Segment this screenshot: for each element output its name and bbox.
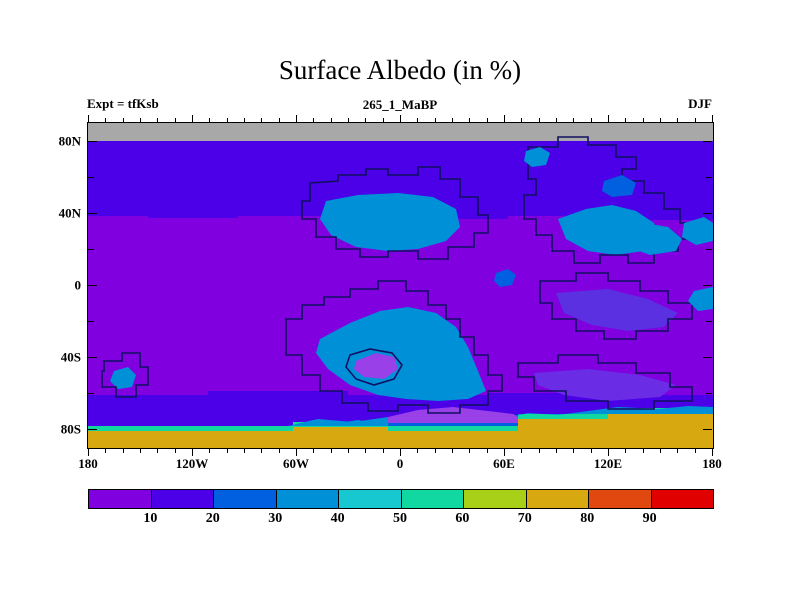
x-tick-label: 0 (397, 457, 404, 470)
figure-canvas: Surface Albedo (in %) 265_1_MaBP Expt = … (0, 0, 800, 600)
x-tick-label: 120E (594, 457, 622, 470)
x-tick-major (712, 115, 713, 123)
experiment-label: Expt = tfKsb (87, 97, 159, 110)
colorbar-swatch->90[interactable] (651, 490, 714, 508)
x-tick-minor (140, 448, 141, 453)
x-tick-minor (556, 118, 557, 123)
x-tick-minor (365, 448, 366, 453)
y-tick-minor (706, 177, 712, 178)
y-tick-minor (88, 393, 94, 394)
x-tick-minor (469, 448, 470, 453)
x-tick-minor (521, 118, 522, 123)
y-tick-major (88, 357, 97, 358)
y-tick-minor (88, 321, 94, 322)
colorbar-tick-label: 60 (455, 512, 469, 526)
y-tick-label: 80S (61, 423, 81, 436)
y-tick-major (703, 429, 712, 430)
colorbar-swatch-70-80[interactable] (526, 490, 589, 508)
x-tick-major (712, 448, 713, 456)
x-tick-major (504, 115, 505, 123)
x-tick-minor (695, 448, 696, 453)
y-tick-label: 40N (59, 207, 81, 220)
colorbar-swatch-40-50[interactable] (338, 490, 401, 508)
y-tick-label: 80N (59, 135, 81, 148)
x-tick-minor (625, 118, 626, 123)
x-tick-minor (383, 448, 384, 453)
x-tick-minor (660, 448, 661, 453)
x-tick-minor (677, 448, 678, 453)
x-tick-minor (556, 448, 557, 453)
colorbar-swatch-80-90[interactable] (588, 490, 651, 508)
colorbar-swatch-10-20[interactable] (151, 490, 214, 508)
x-tick-minor (105, 448, 106, 453)
x-tick-minor (383, 118, 384, 123)
x-tick-minor (539, 118, 540, 123)
x-tick-major (504, 448, 505, 456)
y-tick-label: 40S (61, 351, 81, 364)
x-tick-minor (435, 118, 436, 123)
x-tick-minor (417, 118, 418, 123)
colorbar-tick-label: 10 (143, 512, 157, 526)
x-tick-minor (261, 118, 262, 123)
x-tick-minor (313, 448, 314, 453)
x-tick-major (608, 448, 609, 456)
x-tick-minor (227, 118, 228, 123)
north-pole-missing (88, 123, 713, 141)
x-tick-minor (573, 448, 574, 453)
x-tick-minor (313, 118, 314, 123)
x-tick-minor (348, 448, 349, 453)
y-tick-major (703, 213, 712, 214)
x-tick-minor (279, 118, 280, 123)
colorbar-tick-label: 50 (393, 512, 407, 526)
x-tick-minor (417, 448, 418, 453)
y-tick-minor (88, 249, 94, 250)
x-tick-minor (348, 118, 349, 123)
x-tick-minor (365, 118, 366, 123)
x-tick-minor (123, 118, 124, 123)
x-tick-label: 180 (78, 457, 98, 470)
x-tick-minor (227, 448, 228, 453)
y-tick-minor (706, 321, 712, 322)
page-title: Surface Albedo (in %) (0, 57, 800, 84)
x-tick-minor (209, 448, 210, 453)
colorbar-tick-label: 70 (518, 512, 532, 526)
x-tick-minor (175, 118, 176, 123)
x-tick-minor (591, 448, 592, 453)
x-tick-minor (539, 448, 540, 453)
x-tick-major (400, 448, 401, 456)
colorbar[interactable] (88, 489, 714, 509)
x-tick-minor (244, 118, 245, 123)
colorbar-swatch-20-30[interactable] (213, 490, 276, 508)
x-tick-minor (261, 448, 262, 453)
colorbar-tick-label: 20 (206, 512, 220, 526)
y-tick-minor (706, 249, 712, 250)
x-tick-major (88, 448, 89, 456)
albedo-map (88, 123, 713, 448)
x-tick-minor (591, 118, 592, 123)
x-tick-major (608, 115, 609, 123)
x-tick-major (296, 448, 297, 456)
y-tick-major (703, 285, 712, 286)
x-tick-major (192, 115, 193, 123)
x-tick-minor (123, 448, 124, 453)
map-plot-area (87, 122, 714, 449)
x-tick-minor (140, 118, 141, 123)
y-tick-major (88, 429, 97, 430)
colorbar-swatch-60-70[interactable] (463, 490, 526, 508)
x-tick-minor (209, 118, 210, 123)
x-tick-major (88, 115, 89, 123)
x-tick-minor (279, 448, 280, 453)
season-label: DJF (688, 97, 712, 110)
x-tick-minor (487, 118, 488, 123)
x-tick-major (296, 115, 297, 123)
x-tick-minor (452, 118, 453, 123)
x-tick-minor (452, 448, 453, 453)
colorbar-tick-label: 30 (268, 512, 282, 526)
colorbar-swatch-<10[interactable] (89, 490, 151, 508)
x-tick-label: 60E (493, 457, 515, 470)
x-tick-label: 180 (702, 457, 722, 470)
x-tick-minor (625, 448, 626, 453)
x-tick-minor (573, 118, 574, 123)
x-tick-minor (331, 118, 332, 123)
x-tick-label: 120W (176, 457, 209, 470)
x-tick-minor (244, 448, 245, 453)
y-tick-minor (88, 177, 94, 178)
colorbar-swatch-50-60[interactable] (401, 490, 464, 508)
colorbar-swatch-30-40[interactable] (276, 490, 339, 508)
x-tick-minor (435, 448, 436, 453)
y-tick-minor (706, 393, 712, 394)
colorbar-tick-label: 80 (580, 512, 594, 526)
y-tick-major (88, 285, 97, 286)
x-tick-minor (643, 448, 644, 453)
x-tick-minor (175, 448, 176, 453)
x-tick-minor (157, 448, 158, 453)
x-tick-major (192, 448, 193, 456)
x-tick-minor (469, 118, 470, 123)
y-tick-label: 0 (75, 279, 82, 292)
y-tick-major (703, 141, 712, 142)
x-tick-minor (105, 118, 106, 123)
x-tick-minor (487, 448, 488, 453)
x-tick-minor (157, 118, 158, 123)
colorbar-tick-label: 40 (331, 512, 345, 526)
x-tick-minor (695, 118, 696, 123)
x-tick-minor (331, 448, 332, 453)
x-tick-minor (643, 118, 644, 123)
y-tick-major (88, 141, 97, 142)
y-tick-major (703, 357, 712, 358)
x-tick-minor (521, 448, 522, 453)
x-tick-label: 60W (283, 457, 309, 470)
x-tick-minor (677, 118, 678, 123)
x-tick-major (400, 115, 401, 123)
x-tick-minor (660, 118, 661, 123)
colorbar-tick-label: 90 (643, 512, 657, 526)
y-tick-major (88, 213, 97, 214)
